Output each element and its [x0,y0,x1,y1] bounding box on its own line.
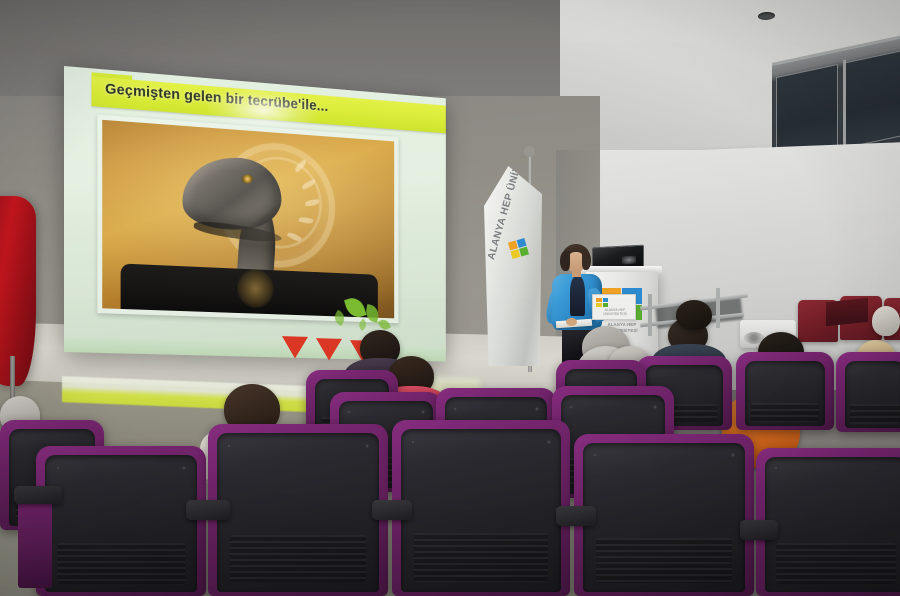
conference-hall-photo: Geçmişten gelen bir tecrübe'ile... [0,0,900,596]
skull-eye [242,174,254,183]
seat-back-panel [217,433,379,592]
seat-armrest-side [18,492,52,588]
seat-screw-icon [569,405,573,409]
seat-screw-icon [347,410,351,414]
seat-screw-icon [56,466,60,470]
presenter-inner-top [570,276,585,316]
seat-screw-icon [731,453,735,457]
seat-armrest [372,500,412,520]
attendee-head [872,306,900,336]
leaf-icon [364,304,380,323]
seat-screw-icon [411,440,415,444]
university-logo-icon [596,298,608,307]
laptop-screen-glint [622,256,636,265]
university-banner-flag: ALANYA HEP ÜNİVERSİTESİ [484,166,542,366]
seat-screw-icon [653,405,657,409]
seat-screw-icon [453,407,457,411]
leaf-icon [332,310,347,326]
wall-sign-text: ALANYA HEP ÜNİVERSİTESİ [594,308,636,317]
back-chair-shadow [826,298,868,326]
railing-post [716,288,720,328]
railing-post [648,294,652,336]
seat-front-right[interactable] [756,448,900,596]
attendee-head [676,300,712,330]
seat-back-panel [401,429,561,592]
turkish-flag [0,196,36,386]
seat-back-center[interactable] [736,352,834,430]
seat-back-panel [583,443,745,592]
seat-screw-icon [774,466,778,470]
seat-armrest [186,500,230,520]
leaf-icon [357,319,369,332]
pennant-icon [316,338,342,361]
seat-screw-icon [227,444,231,448]
seat-front-center-right[interactable] [574,434,754,596]
projection-screen: Geçmişten gelen bir tecrübe'ile... [64,66,446,362]
wall-sign: ALANYA HEP ÜNİVERSİTESİ [592,294,636,320]
university-logo-icon [508,238,529,259]
seat-armrest [556,506,596,526]
slide-photo [102,120,394,319]
leaf-icon [344,295,366,320]
seat-back-panel [845,361,900,428]
seat-front-left[interactable] [36,446,206,596]
seat-front-center-left[interactable] [208,424,388,596]
window-pane [844,49,900,149]
seat-screw-icon [365,444,369,448]
seat-back-panel [45,455,197,592]
seat-screw-icon [421,410,425,414]
seat-back-panel [765,457,900,592]
banner-flag-finial [524,146,535,157]
seat-screw-icon [535,407,539,411]
seat-armrest [740,520,778,540]
podium-seal-icon [237,269,273,309]
seat-back-right[interactable] [836,352,900,432]
seat-screw-icon [182,466,186,470]
seat-screw-icon [593,453,597,457]
presenter-hand [566,318,577,326]
presenter-hair-right [582,251,591,270]
presenter-hair-left [560,251,570,271]
slide-photo-frame [97,115,398,324]
seat-back-panel [745,361,825,426]
pennant-icon [282,336,308,359]
seat-screw-icon [547,440,551,444]
seat-front-center[interactable] [392,420,570,596]
seat-armrest [14,486,62,504]
